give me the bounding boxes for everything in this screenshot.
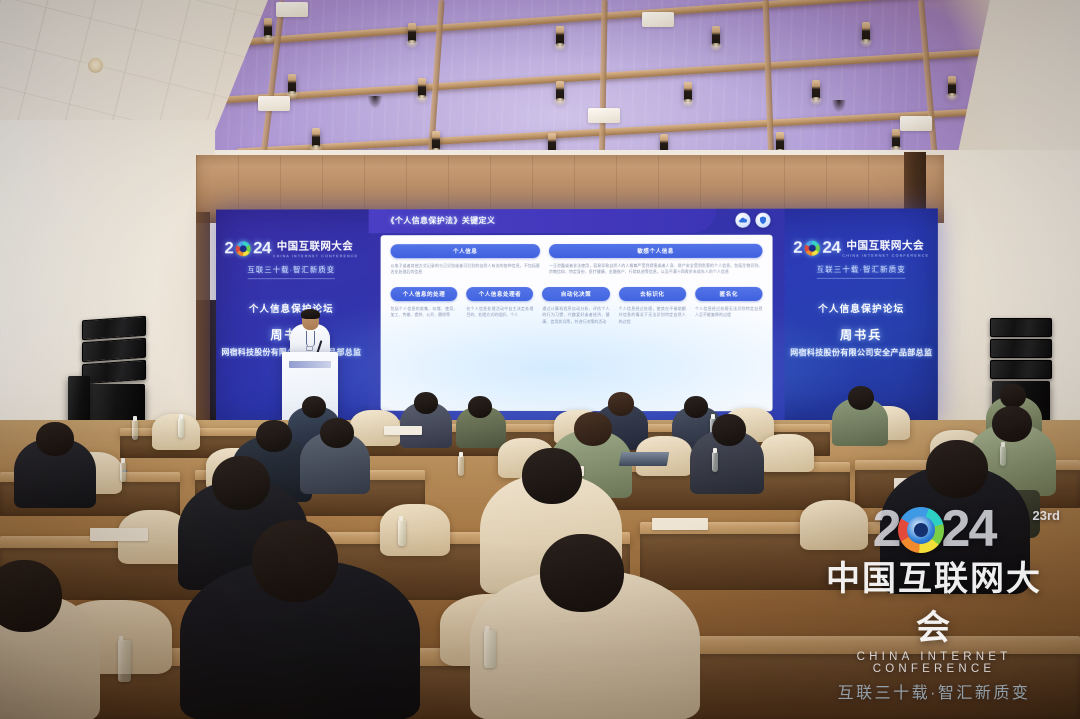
audience-head (252, 520, 338, 602)
speaker-cabinet (990, 318, 1052, 337)
ceiling-spotlight (776, 132, 784, 152)
water-bottle (398, 520, 406, 546)
ceiling-spotlight (312, 128, 320, 148)
water-bottle (712, 452, 718, 472)
paper-document (652, 518, 708, 530)
ceiling-spotlight (288, 74, 296, 94)
slide-card: 个人信息的处理 包括个人信息的收集、存储、使用、加工、传输、提供、公开、删除等 (391, 287, 458, 326)
audience-head (574, 412, 612, 446)
ceiling-spotlight (862, 22, 870, 42)
slide-card: 个人信息 以电子或者其他方式记录的与已识别或者可识别的自然人有关的各种信息，不包… (391, 244, 540, 276)
speaker-cabinet (990, 360, 1052, 379)
shield-icon (755, 213, 770, 228)
card-body: 一旦泄露或者非法使用，容易导致自然人的人格尊严受到侵害或者人身、财产安全受到危害… (549, 263, 762, 276)
globe-icon (236, 241, 251, 256)
hanging-fixture (368, 96, 382, 108)
conference-logo-right: 2 24 中国互联网大会 CHINA INTERNET CONFERENCE (793, 238, 929, 258)
conference-hall-photo: 2 24 中国互联网大会 CHINA INTERNET CONFERENCE 互… (0, 0, 1080, 719)
card-body: 以电子或者其他方式记录的与已识别或者可识别的自然人有关的各种信息，不包括匿名化处… (391, 263, 540, 276)
speaker-title-right: 网宿科技股份有限公司安全产品部总监 (790, 348, 932, 358)
slide-card: 去标识化 个人信息经过处理，使其在不借助额外信息的情况下无法识别特定自然人的过程 (619, 287, 686, 326)
slide-card: 匿名化 个人信息经过处理无法识别特定自然人且不能复原的过程 (695, 287, 762, 326)
chair (760, 434, 814, 472)
ceiling-panel (642, 12, 674, 27)
ceiling-spotlight (892, 129, 900, 149)
card-heading: 个人信息处理者 (466, 287, 533, 301)
water-bottle (458, 456, 464, 476)
logo-year-suffix: 24 (822, 238, 840, 258)
logo-en-right: CHINA INTERNET CONFERENCE (842, 254, 929, 258)
logo-year: 2 (793, 238, 802, 258)
water-bottle (178, 418, 184, 438)
card-heading: 自动化决策 (542, 287, 609, 301)
slide-card: 个人信息处理者 在个人信息处理活动中自主决定处理目的、处理方式的组织、个人 (466, 287, 533, 326)
logo-en-left: CHINA INTERNET CONFERENCE (273, 254, 358, 258)
card-heading: 个人信息的处理 (391, 287, 458, 301)
ceiling-spotlight (556, 81, 564, 101)
forum-name-right: 个人信息保护论坛 (818, 301, 904, 315)
speaker-lanyard (306, 331, 315, 347)
paper-document (384, 426, 422, 435)
speaker-hair (301, 309, 320, 319)
conference-logo-left: 2 24 中国互联网大会 CHINA INTERNET CONFERENCE (224, 238, 358, 258)
ceiling-spotlight (556, 26, 564, 46)
slide-top-card-row: 个人信息 以电子或者其他方式记录的与已识别或者可识别的自然人有关的各种信息，不包… (391, 244, 763, 276)
card-body: 个人信息经过处理，使其在不借助额外信息的情况下无法识别特定自然人的过程 (619, 306, 686, 326)
ceiling-panel (588, 108, 620, 123)
card-body: 通过计算机程序自动分析、评估个人的行为习惯、兴趣爱好或者经济、健康、信用状况等，… (542, 306, 609, 326)
audience-head (302, 396, 326, 418)
slide-content: 《个人信息保护法》关键定义 个人信息 以电子或者其他方式记录的与已识别或者可识别… (369, 209, 785, 422)
ceiling-spotlight (408, 23, 416, 43)
audience-head (992, 406, 1032, 442)
chair (152, 414, 200, 450)
logo-slogan-left: 互联三十载·智汇新质变 (247, 264, 335, 279)
ceiling-panel (276, 2, 308, 17)
audience-head (414, 392, 438, 414)
card-heading: 敏感个人信息 (549, 244, 762, 258)
chair (380, 504, 450, 556)
water-bottle (132, 420, 138, 440)
slide-header-icons (735, 213, 770, 228)
speaker-badge (306, 346, 313, 351)
audience-head (36, 422, 74, 456)
slide-bottom-card-row: 个人信息的处理 包括个人信息的收集、存储、使用、加工、传输、提供、公开、删除等 … (391, 287, 763, 326)
ceiling-spotlight (812, 80, 820, 100)
logo-slogan-right: 互联三十载·智汇新质变 (817, 264, 906, 279)
audience-head (212, 456, 270, 510)
ceiling-spotlight (432, 131, 440, 151)
laptop (619, 452, 669, 466)
card-heading: 个人信息 (391, 244, 540, 258)
card-heading: 去标识化 (619, 287, 686, 301)
audience-head (320, 418, 354, 448)
logo-cn-left: 中国互联网大会 (277, 238, 353, 253)
audience-head (468, 396, 492, 418)
forum-name-left: 个人信息保护论坛 (249, 301, 334, 315)
audience-head (256, 420, 292, 452)
logo-year: 2 (224, 238, 233, 258)
audience-head (848, 386, 874, 410)
audience-head (712, 414, 746, 446)
slide-body: 个人信息 以电子或者其他方式记录的与已识别或者可识别的自然人有关的各种信息，不包… (381, 235, 773, 412)
recessed-downlight (88, 58, 103, 73)
globe-icon (805, 240, 820, 255)
ceiling-spotlight (712, 26, 720, 46)
chair (800, 500, 868, 550)
logo-year-suffix: 24 (253, 238, 271, 258)
ceiling-spotlight (264, 18, 272, 38)
logo-cn-right: 中国互联网大会 (846, 238, 924, 253)
podium-branding (289, 361, 331, 368)
slide-title: 《个人信息保护法》关键定义 (387, 215, 496, 226)
card-body: 在个人信息处理活动中自主决定处理目的、处理方式的组织、个人 (466, 306, 533, 319)
table-skirt (640, 654, 1080, 719)
card-heading: 匿名化 (695, 287, 762, 301)
audience-head (1000, 384, 1026, 408)
paper-document (90, 528, 148, 541)
water-bottle (118, 640, 131, 682)
ceiling-spotlight (948, 76, 956, 96)
slide-card: 敏感个人信息 一旦泄露或者非法使用，容易导致自然人的人格尊严受到侵害或者人身、财… (549, 244, 762, 276)
audience-head (684, 396, 708, 418)
speaker-cabinet (990, 339, 1052, 358)
hanging-fixture (832, 100, 846, 112)
card-body: 包括个人信息的收集、存储、使用、加工、传输、提供、公开、删除等 (391, 306, 458, 319)
water-bottle (120, 462, 126, 482)
ceiling-spotlight (684, 82, 692, 102)
slide-card: 自动化决策 通过计算机程序自动分析、评估个人的行为习惯、兴趣爱好或者经济、健康、… (542, 287, 609, 326)
cloud-icon (735, 213, 750, 228)
ceiling-panel (900, 116, 932, 131)
water-bottle (484, 630, 496, 668)
wood-column-left (196, 212, 210, 442)
audience-head (522, 448, 582, 504)
card-body: 个人信息经过处理无法识别特定自然人且不能复原的过程 (695, 306, 762, 319)
table (640, 636, 1080, 656)
ceiling-panel (258, 96, 290, 111)
slide-header: 《个人信息保护法》关键定义 (369, 209, 785, 234)
speaker-name-right: 周书兵 (840, 326, 882, 343)
audience-head (608, 392, 634, 416)
audience-head (540, 534, 624, 612)
audience-head (926, 440, 988, 498)
ceiling-spotlight (418, 78, 426, 98)
water-bottle (1000, 446, 1006, 466)
